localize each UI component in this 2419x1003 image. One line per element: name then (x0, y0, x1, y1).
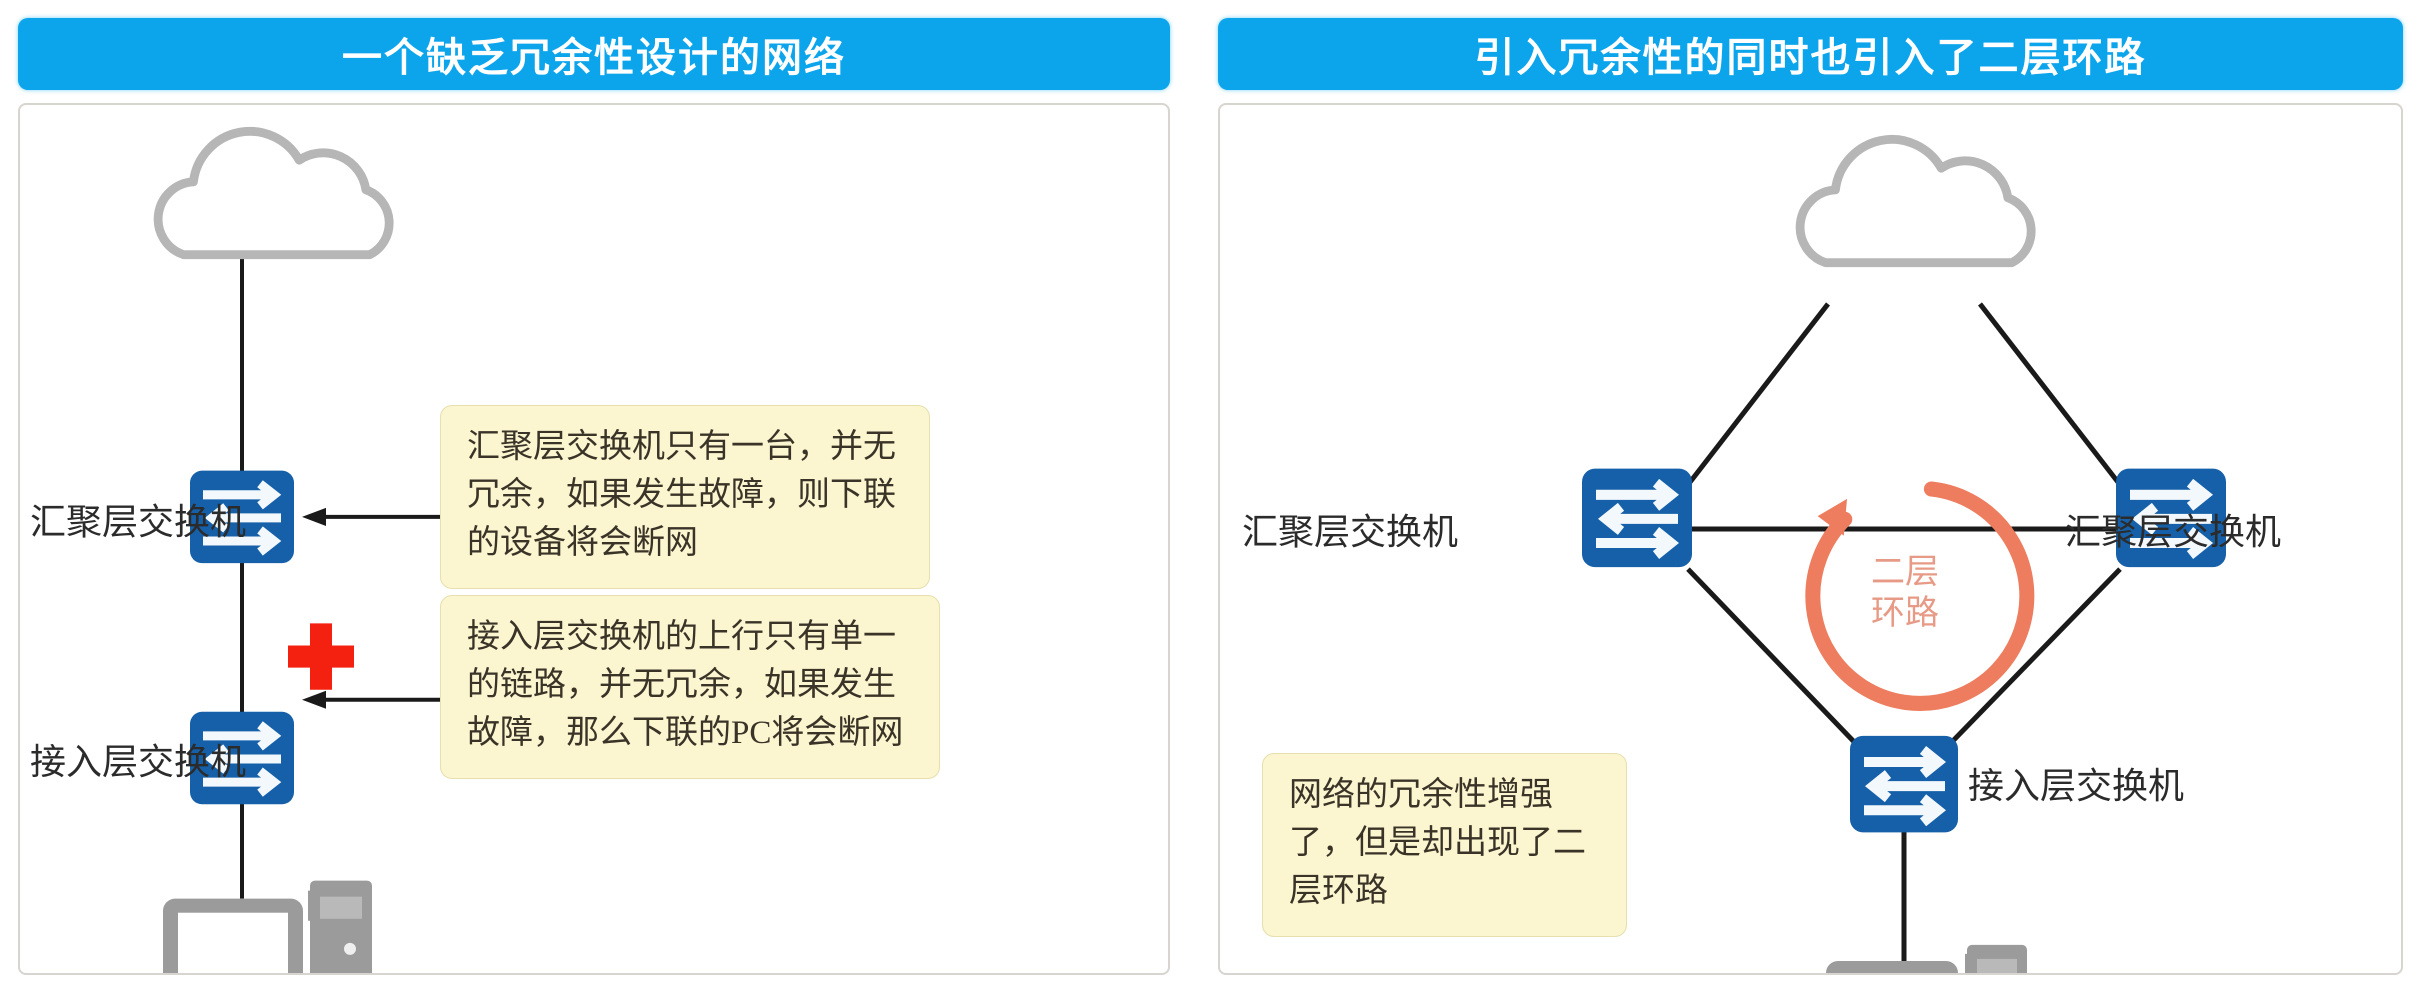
callout-arrow-2 (302, 691, 440, 709)
panel-body-right: 汇聚层交换机 汇聚层交换机 接入层交换机 二层 环路 网络的冗余性增强了，但是却… (1218, 103, 2403, 975)
cloud-icon (158, 131, 389, 254)
label-access-switch-right: 接入层交换机 (1968, 757, 2184, 809)
cloud-icon (1800, 139, 2031, 262)
panel-no-redundancy: 一个缺乏冗余性设计的网络 (18, 18, 1170, 985)
callout-aggregation-single: 汇聚层交换机只有一台，并无冗余，如果发生故障，则下联的设备将会断网 (440, 405, 930, 589)
loop-annotation-line2: 环路 (1830, 594, 1980, 635)
label-access-switch-left: 接入层交换机 (30, 733, 246, 785)
switch-icon-aggregation-left (1582, 469, 1692, 567)
pc-icon (1826, 945, 2027, 973)
pc-icon (163, 881, 372, 973)
label-aggregation-switch-left: 汇聚层交换机 (30, 493, 246, 545)
panel-with-redundancy: 引入冗余性的同时也引入了二层环路 (1218, 18, 2403, 985)
callout-redundancy-loop: 网络的冗余性增强了，但是却出现了二层环路 (1262, 753, 1627, 937)
panel-header-right: 引入冗余性的同时也引入了二层环路 (1218, 18, 2403, 90)
link-cloud-agg-left (1688, 304, 1828, 485)
diagram-board: 一个缺乏冗余性设计的网络 (0, 0, 2419, 1003)
loop-annotation: 二层 环路 (1830, 553, 1980, 635)
panel-header-left: 一个缺乏冗余性设计的网络 (18, 18, 1170, 90)
callout-arrow-1 (302, 508, 440, 526)
callout-uplink-single: 接入层交换机的上行只有单一的链路，并无冗余，如果发生故障，那么下联的PC将会断网 (440, 595, 940, 779)
label-aggregation-switch-right-left: 汇聚层交换机 (1242, 503, 1458, 555)
label-aggregation-switch-right-right: 汇聚层交换机 (2065, 503, 2281, 555)
link-cloud-agg-right (1980, 304, 2120, 485)
switch-icon-access (1850, 736, 1958, 832)
panel-body-left: 汇聚层交换机 接入层交换机 汇聚层交换机只有一台，并无冗余，如果发生故障，则下联… (18, 103, 1170, 975)
red-cross-icon (288, 623, 354, 689)
loop-annotation-line1: 二层 (1830, 553, 1980, 594)
